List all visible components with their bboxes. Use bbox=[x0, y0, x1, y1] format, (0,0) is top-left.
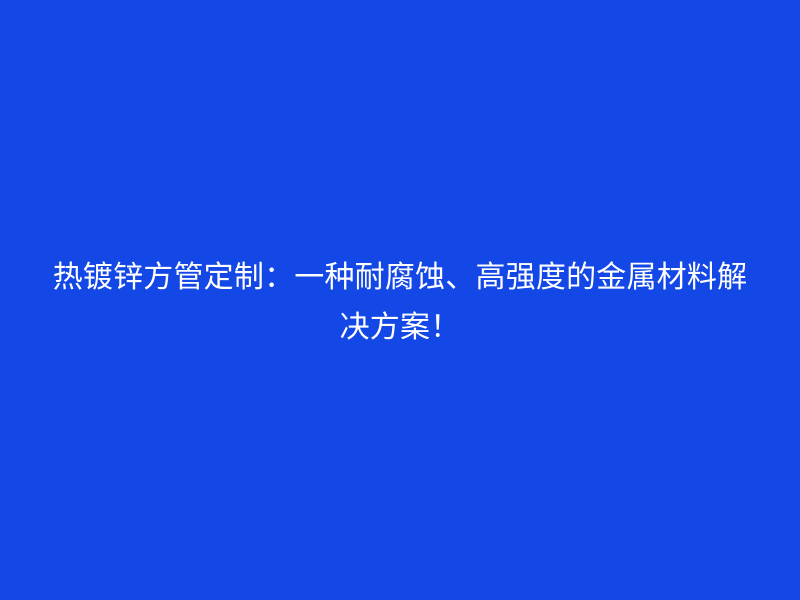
title-card: 热镀锌方管定制：一种耐腐蚀、高强度的金属材料解决方案！ bbox=[0, 0, 800, 600]
page-title: 热镀锌方管定制：一种耐腐蚀、高强度的金属材料解决方案！ bbox=[40, 253, 760, 353]
title-block: 热镀锌方管定制：一种耐腐蚀、高强度的金属材料解决方案！ bbox=[0, 253, 800, 353]
